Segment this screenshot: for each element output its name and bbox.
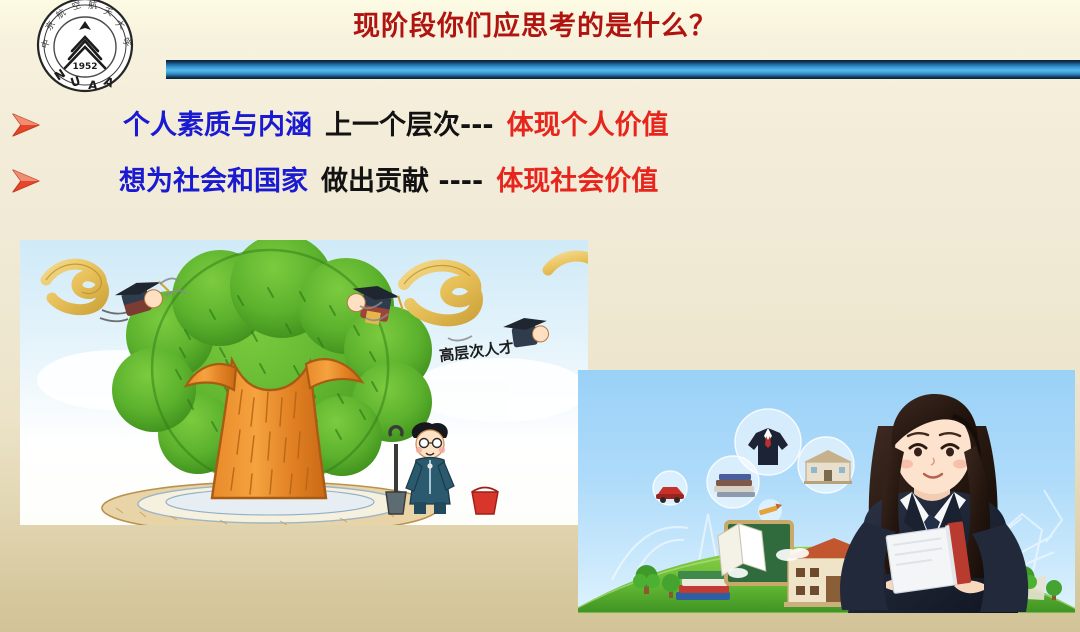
bullet-1-segment-blue: 个人素质与内涵 [123,110,312,141]
nuaa-university-emblem-icon: 1952 N U A A 中 京 航 空 航 天 大 学 [25,0,145,97]
cartoon-talent-tree-image: 高层次人才 [20,240,588,525]
bullet-line-1-text: 个人素质与内涵上一个层次---体现个人价值 [123,112,669,139]
bullet-line-1: 个人素质与内涵上一个层次---体现个人价值 [0,103,1080,147]
bullet-line-2-text: 想为社会和国家做出贡献 ----体现社会价值 [119,168,658,195]
svg-text:1952: 1952 [72,62,97,72]
presentation-slide: 1952 N U A A 中 京 航 空 航 天 大 学 现阶段你们应思考的是什… [0,0,1080,632]
arrow-bullet-icon [9,110,43,140]
bullet-2-segment-black: 做出贡献 ---- [321,166,483,197]
svg-text:A: A [88,78,99,93]
bullet-2-segment-red: 体现社会价值 [496,166,658,197]
bullet-2-segment-blue: 想为社会和国家 [119,166,308,197]
bullet-line-2: 想为社会和国家做出贡献 ----体现社会价值 [0,159,1080,203]
bullet-1-segment-red: 体现个人价值 [507,110,669,141]
student-campus-photo [578,370,1075,613]
bullet-1-segment-black: 上一个层次--- [325,110,494,141]
arrow-bullet-icon [9,166,43,196]
blue-divider-bar [166,60,1080,79]
slide-title: 现阶段你们应思考的是什么？ [300,4,770,43]
svg-text:航: 航 [88,0,97,11]
